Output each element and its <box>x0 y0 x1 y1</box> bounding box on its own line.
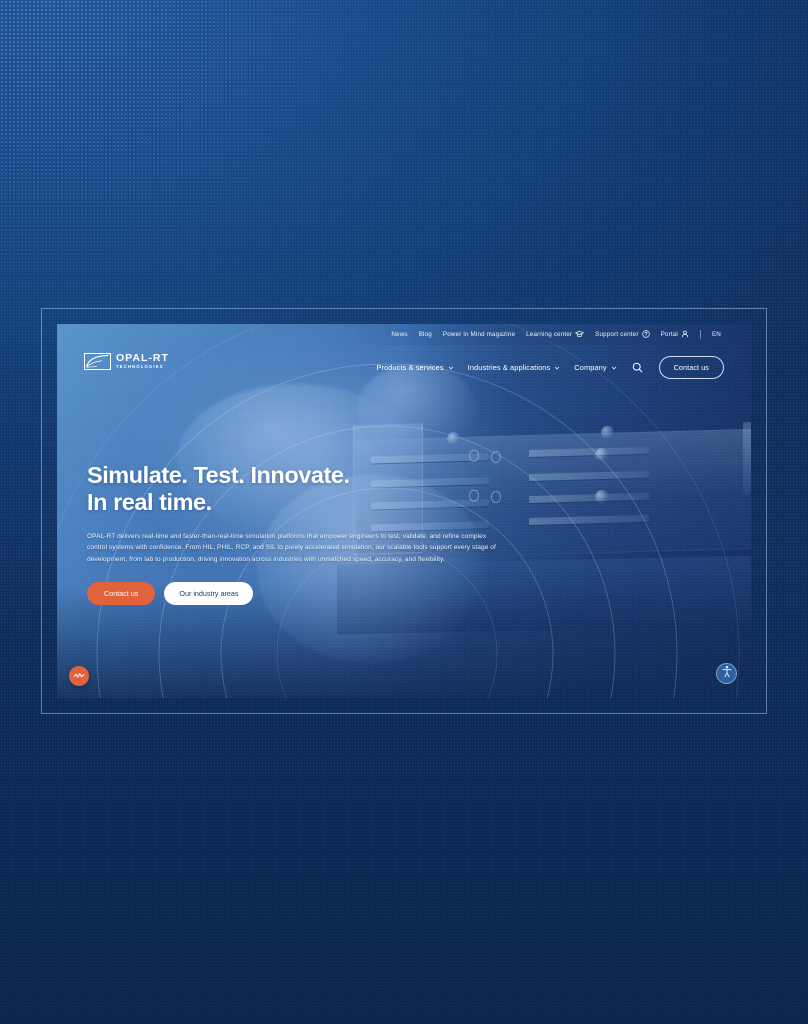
hero-our-industry-areas-button[interactable]: Our industry areas <box>164 582 253 605</box>
chat-widget[interactable] <box>69 666 89 686</box>
utility-divider <box>700 330 701 339</box>
utility-link-news[interactable]: News <box>391 331 407 338</box>
utility-link-learning-center[interactable]: Learning center <box>526 330 584 340</box>
nav-item-label: Company <box>574 363 606 372</box>
website-viewport: News Blog Power in Mind magazine Learnin… <box>57 324 751 698</box>
brand-wordmark: OPAL-RT TECHNOLOGIES <box>116 353 169 369</box>
hero-content: Simulate. Test. Innovate. In real time. … <box>87 462 517 605</box>
opal-rt-logomark-icon <box>84 353 111 370</box>
nav-item-company[interactable]: Company <box>574 363 616 372</box>
utility-navigation: News Blog Power in Mind magazine Learnin… <box>57 324 751 345</box>
brand-tagline: TECHNOLOGIES <box>116 365 169 369</box>
chat-wave-icon <box>73 667 85 685</box>
user-icon <box>681 330 689 340</box>
utility-link-support-center[interactable]: Support center <box>595 330 649 340</box>
brand-name: OPAL-RT <box>116 353 169 364</box>
hero-cta-group: Contact us Our industry areas <box>87 582 517 605</box>
nav-item-industries-and-applications[interactable]: Industries & applications <box>468 363 561 372</box>
hero-equipment-panel-right <box>743 422 751 495</box>
hero-paragraph: OPAL-RT delivers real-time and faster-th… <box>87 531 505 566</box>
language-label: EN <box>712 331 721 338</box>
utility-link-power-in-mind-magazine[interactable]: Power in Mind magazine <box>443 331 515 338</box>
utility-link-blog[interactable]: Blog <box>419 331 432 338</box>
nav-item-label: Products & services <box>376 363 443 372</box>
chevron-down-icon <box>554 364 560 370</box>
accessibility-person-icon <box>721 665 733 683</box>
language-selector[interactable]: EN <box>712 331 721 338</box>
chevron-down-icon <box>611 364 617 370</box>
brand-logo[interactable]: OPAL-RT TECHNOLOGIES <box>84 353 169 370</box>
main-nav-items: Products & services Industries & applica… <box>376 345 724 389</box>
utility-link-portal[interactable]: Portal <box>661 330 689 340</box>
page-root: News Blog Power in Mind magazine Learnin… <box>0 0 808 1024</box>
header-contact-us-button[interactable]: Contact us <box>659 356 724 379</box>
utility-link-label: Support center <box>595 331 638 338</box>
utility-link-label: News <box>391 331 407 338</box>
chevron-down-icon <box>448 364 454 370</box>
hero-heading: Simulate. Test. Innovate. In real time. <box>87 462 517 517</box>
hero-contact-us-button[interactable]: Contact us <box>87 582 155 605</box>
main-navigation: OPAL-RT TECHNOLOGIES Products & services… <box>57 345 751 389</box>
hero-heading-line-1: Simulate. Test. Innovate. <box>87 462 517 489</box>
nav-item-label: Industries & applications <box>468 363 551 372</box>
utility-link-label: Blog <box>419 331 432 338</box>
utility-link-label: Learning center <box>526 331 572 338</box>
hero-heading-line-2: In real time. <box>87 489 517 516</box>
accessibility-widget[interactable] <box>716 663 737 684</box>
question-circle-icon <box>642 330 650 340</box>
utility-link-label: Portal <box>661 331 678 338</box>
graduation-cap-icon <box>575 330 584 340</box>
nav-item-products-and-services[interactable]: Products & services <box>376 363 453 372</box>
search-icon[interactable] <box>631 360 645 374</box>
utility-link-label: Power in Mind magazine <box>443 331 515 338</box>
